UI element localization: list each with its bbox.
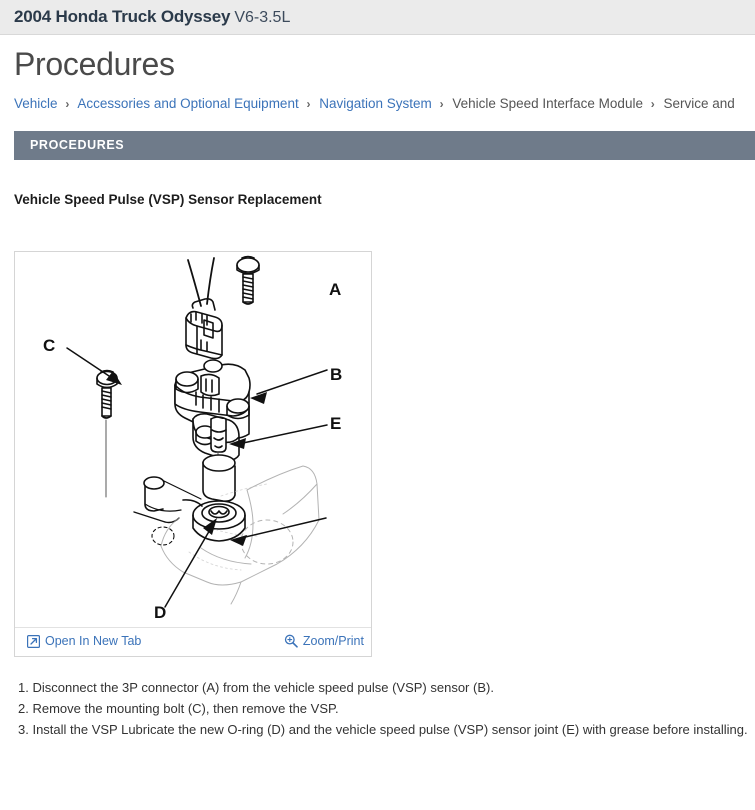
magnifier-plus-icon: [284, 634, 298, 648]
breadcrumb: Vehicle › Accessories and Optional Equip…: [14, 96, 755, 116]
procedure-step: 1. Disconnect the 3P connector (A) from …: [18, 678, 748, 697]
section-header-bar: PROCEDURES: [14, 131, 755, 160]
external-link-icon: [26, 634, 40, 648]
vehicle-engine: V6-3.5L: [234, 9, 290, 26]
breadcrumb-item-navigation-system[interactable]: Navigation System: [319, 96, 432, 111]
figure-callout-a: A: [329, 280, 341, 299]
figure-callout-c: C: [43, 336, 55, 355]
vehicle-header-text: 2004 Honda Truck OdysseyV6-3.5L: [14, 7, 290, 27]
open-in-new-tab-button[interactable]: Open In New Tab: [26, 634, 141, 648]
breadcrumb-separator: ›: [440, 97, 444, 111]
zoom-print-button[interactable]: Zoom/Print: [284, 634, 364, 648]
breadcrumb-separator: ›: [651, 97, 655, 111]
section-header-label: PROCEDURES: [30, 138, 124, 152]
figure-callout-d: D: [154, 603, 166, 622]
breadcrumb-item-vehicle-speed-interface-module: Vehicle Speed Interface Module: [452, 96, 643, 111]
breadcrumb-separator: ›: [306, 97, 310, 111]
figure-panel: A B C D E Open In New Tab: [14, 251, 372, 657]
page-title: Procedures: [14, 46, 175, 83]
vehicle-header-bar: 2004 Honda Truck OdysseyV6-3.5L: [0, 0, 755, 35]
breadcrumb-separator: ›: [65, 97, 69, 111]
breadcrumb-item-vehicle[interactable]: Vehicle: [14, 96, 58, 111]
figure-image[interactable]: A B C D E: [15, 252, 371, 627]
breadcrumb-item-service-and: Service and: [664, 96, 735, 111]
breadcrumb-item-accessories[interactable]: Accessories and Optional Equipment: [77, 96, 298, 111]
figure-footer: Open In New Tab Zoom/Print: [15, 627, 371, 656]
zoom-print-label: Zoom/Print: [303, 634, 364, 648]
figure-callout-b: B: [330, 365, 342, 384]
figure-callout-e: E: [330, 414, 341, 433]
procedure-steps: 1. Disconnect the 3P connector (A) from …: [18, 678, 748, 741]
vehicle-name: 2004 Honda Truck Odyssey: [14, 7, 230, 26]
procedure-step: 3. Install the VSP Lubricate the new O-r…: [18, 720, 748, 739]
procedure-step: 2. Remove the mounting bolt (C), then re…: [18, 699, 748, 718]
open-in-new-tab-label: Open In New Tab: [45, 634, 141, 648]
procedure-heading: Vehicle Speed Pulse (VSP) Sensor Replace…: [14, 192, 322, 207]
